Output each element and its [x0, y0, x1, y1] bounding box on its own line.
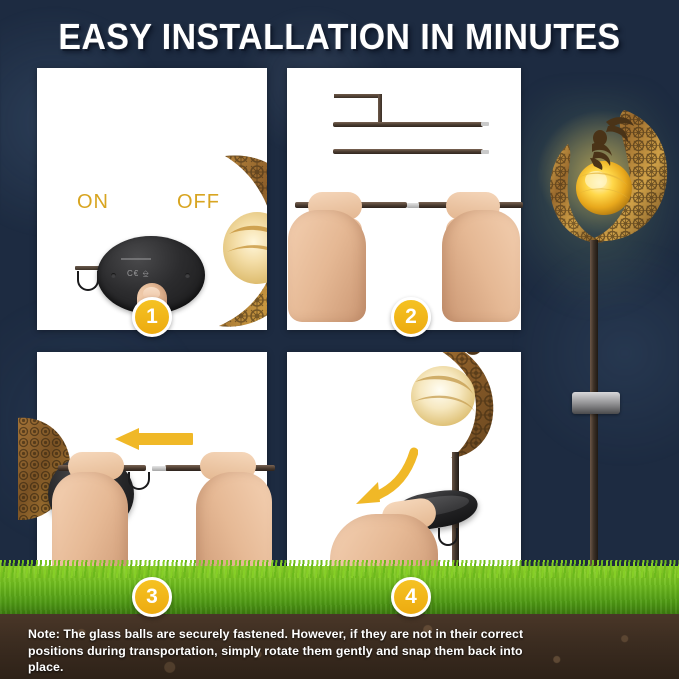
step-badge-1: 1	[132, 297, 172, 337]
step-panel-1: ON OFF C€ ⎒	[37, 68, 267, 330]
palm	[288, 210, 366, 322]
arrow-rotate-icon	[348, 444, 418, 510]
solar-panel-mount	[572, 392, 620, 414]
palm	[442, 210, 520, 322]
step-badge-4: 4	[391, 577, 431, 617]
step-badge-2: 2	[391, 297, 431, 337]
hand-left-step2	[288, 192, 366, 322]
stake-hook-vertical	[378, 94, 382, 124]
label-off: OFF	[177, 191, 220, 214]
stake-hook-horizontal	[334, 94, 382, 98]
stake-rod-lower	[333, 149, 483, 154]
footer-note: Note: The glass balls are securely faste…	[28, 626, 526, 676]
product-showcase	[528, 100, 678, 620]
infographic-canvas: EASY INSTALLATION IN MINUTES	[0, 0, 679, 679]
rod-tip-lower-icon	[481, 150, 489, 154]
wire-loop	[77, 271, 99, 291]
stake-rod-upper	[333, 122, 483, 127]
ce-mark-icon: C€ ⎒	[127, 269, 150, 279]
hand-right-step2	[442, 192, 520, 322]
page-title: EASY INSTALLATION IN MINUTES	[20, 16, 658, 58]
rod-connector-icon	[152, 466, 166, 471]
grass-blades	[0, 560, 679, 578]
label-on: ON	[77, 191, 109, 214]
screw-icon-left	[111, 273, 116, 278]
moon-lantern-illustration	[185, 148, 267, 330]
screw-icon-right	[185, 273, 190, 278]
rod-tip-upper-icon	[481, 122, 489, 126]
rod-connector-icon	[407, 203, 419, 208]
step-badge-3: 3	[132, 577, 172, 617]
product-moon-lamp-illustration	[528, 100, 678, 300]
